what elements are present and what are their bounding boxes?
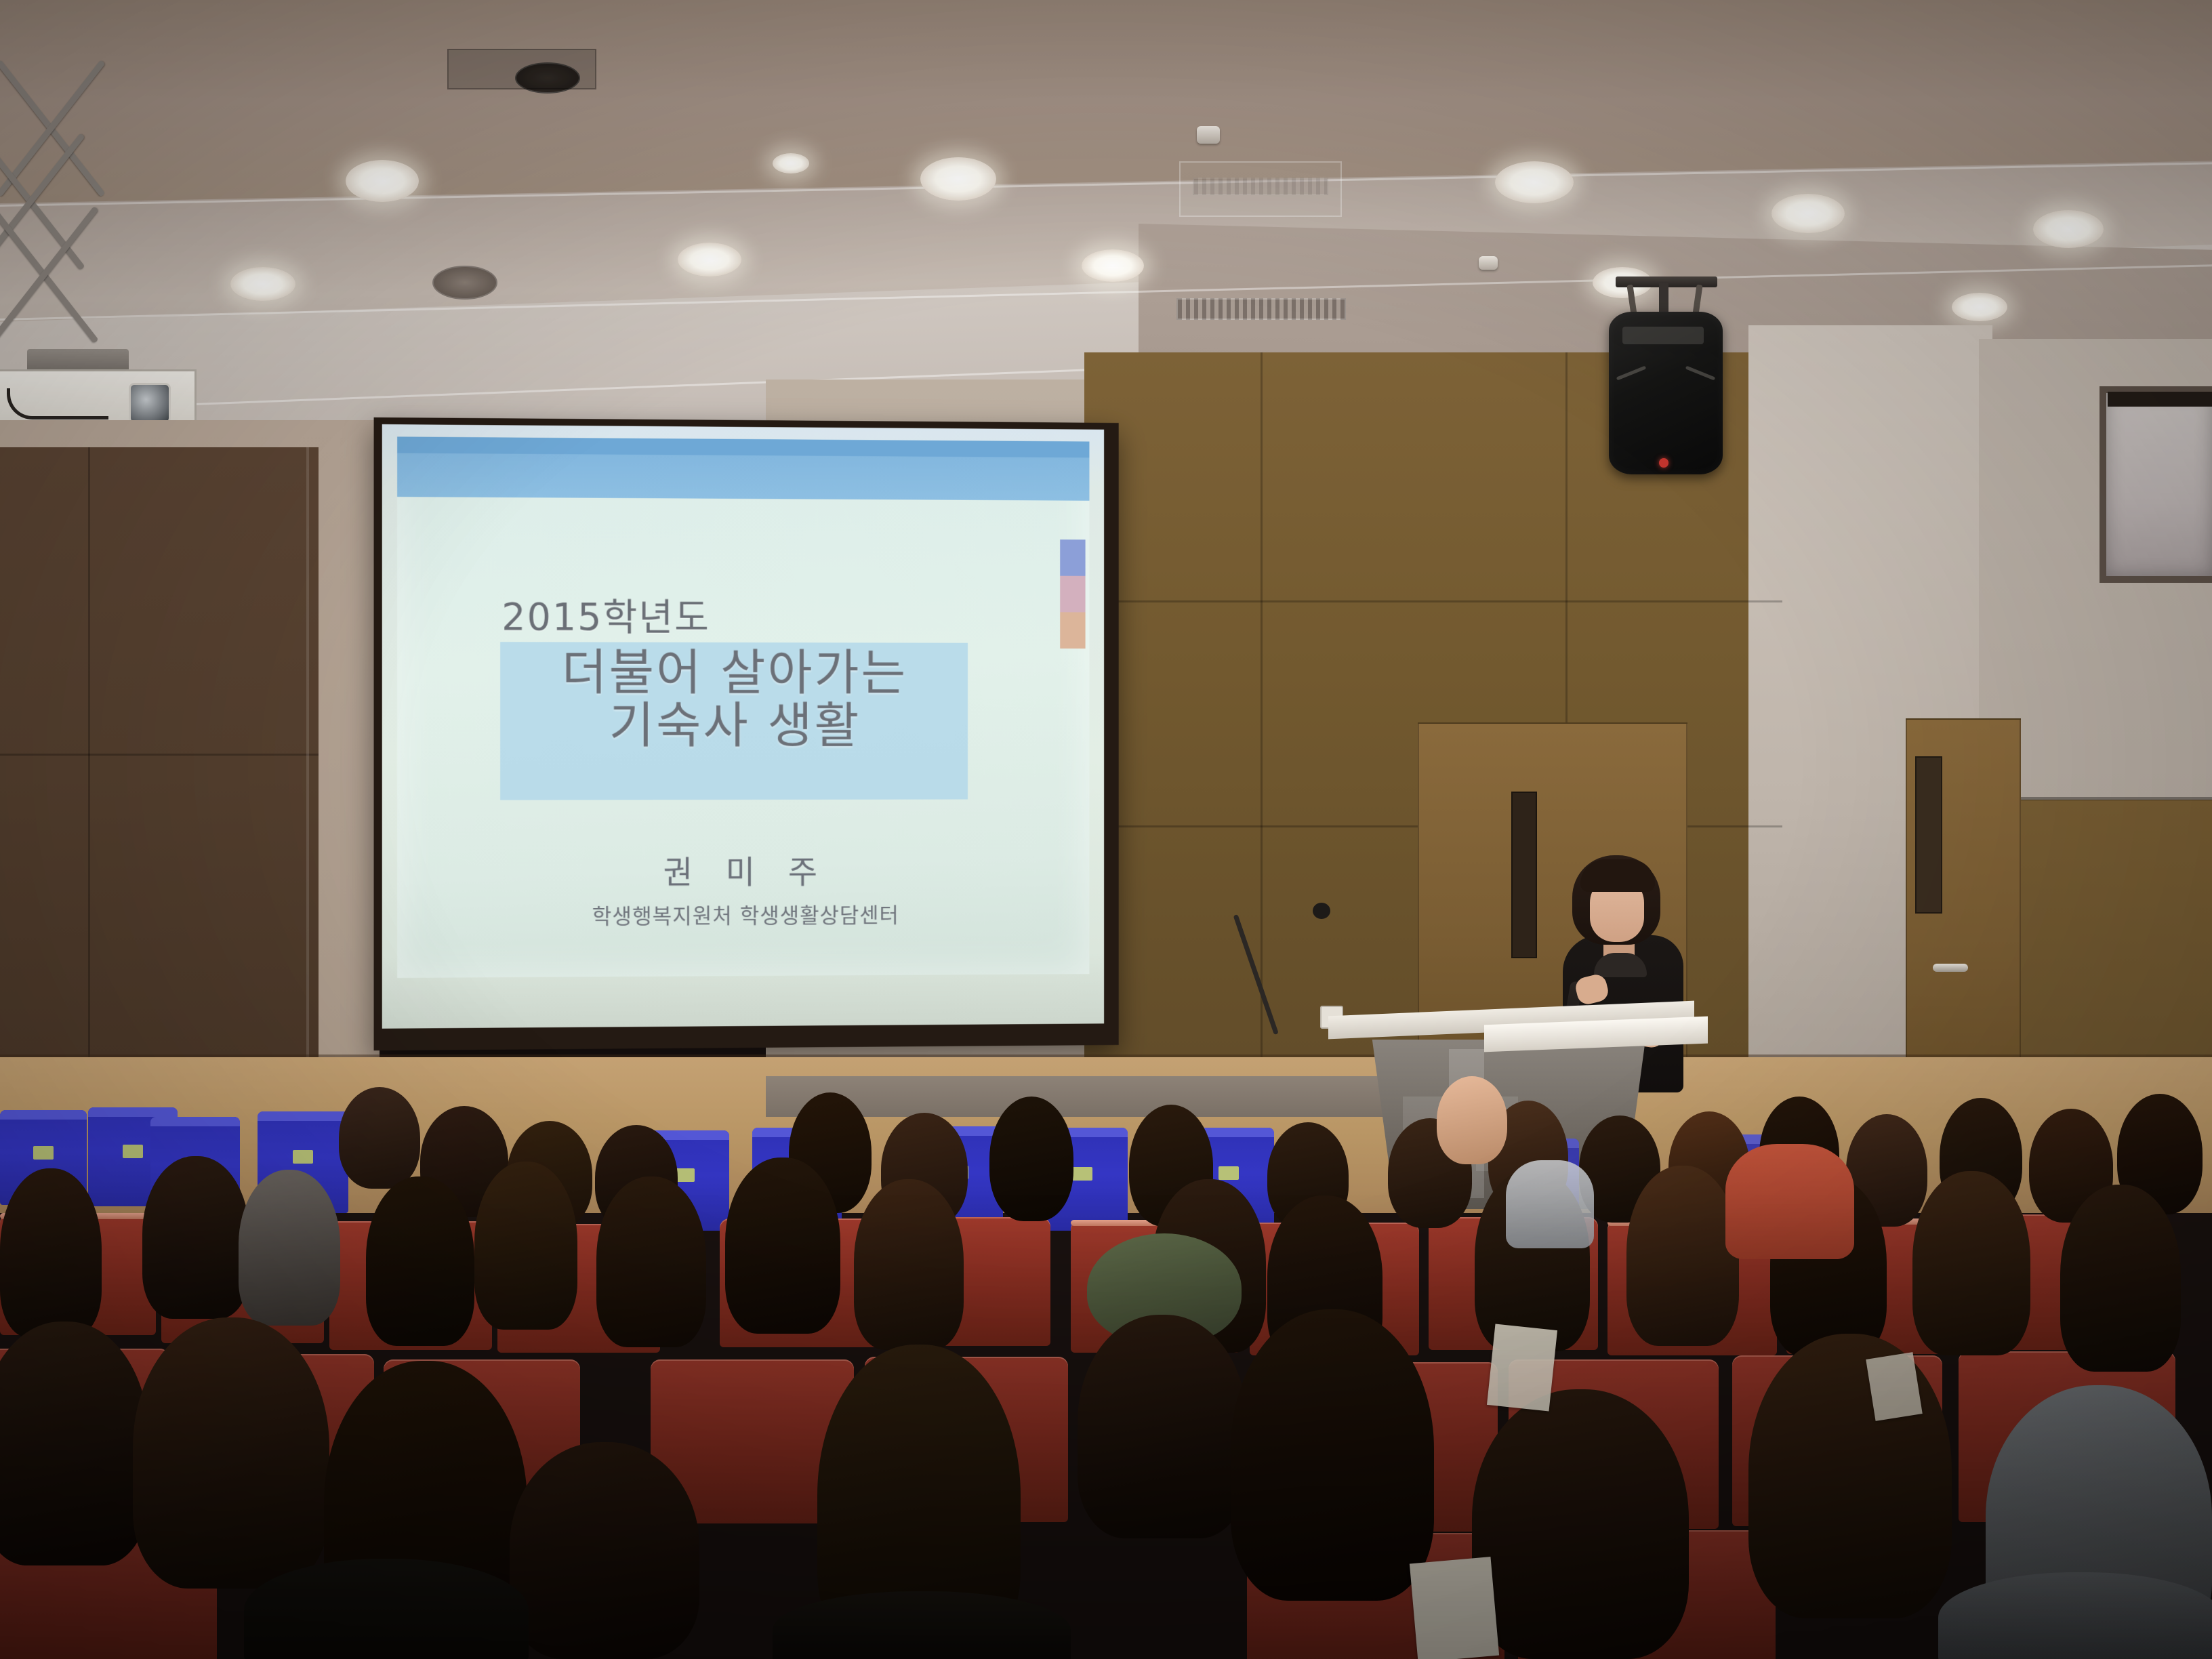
slide-title-line1: 더불어 살아가는 bbox=[500, 646, 968, 699]
speaker-grille bbox=[1622, 327, 1704, 344]
presenter-bangs bbox=[1580, 859, 1655, 892]
audience-head bbox=[474, 1162, 577, 1330]
audience-light-jacket bbox=[1506, 1160, 1594, 1248]
projector-lens-icon bbox=[129, 383, 171, 424]
slide-presenter-name: 권 미 주 bbox=[397, 845, 1089, 894]
slide-swatch-pink bbox=[1060, 576, 1085, 613]
audience-head bbox=[1078, 1315, 1247, 1538]
audience-head bbox=[725, 1158, 840, 1334]
ceiling-downlight-icon bbox=[346, 160, 419, 202]
slide-title: 더불어 살아가는 기숙사 생활 bbox=[500, 646, 968, 752]
audience-shoulders bbox=[773, 1591, 1071, 1659]
projection-screen-surface: 2015학년도 더불어 살아가는 기숙사 생활 권 미 주 학생행복지원처 학생… bbox=[382, 424, 1104, 1029]
gooseneck-microphone-head-icon bbox=[1313, 903, 1330, 919]
wall-seam bbox=[0, 754, 319, 756]
audience-head bbox=[142, 1156, 249, 1319]
handout-paper[interactable] bbox=[1487, 1324, 1557, 1412]
slide-swatch-peach bbox=[1060, 612, 1085, 649]
slide-swatch-blue bbox=[1060, 539, 1085, 576]
wall-seam bbox=[306, 447, 309, 1098]
door-handle-icon[interactable] bbox=[1933, 964, 1968, 972]
wall-seam bbox=[88, 447, 90, 1098]
audience-head bbox=[1626, 1166, 1739, 1346]
ceiling-downlight-icon bbox=[1952, 293, 2007, 321]
audience-head bbox=[239, 1170, 340, 1326]
projection-booth-window bbox=[2100, 386, 2212, 583]
slide-title-line2: 기숙사 생활 bbox=[500, 699, 968, 752]
booth-window-header-bar bbox=[2108, 392, 2212, 407]
air-vent-icon bbox=[1193, 178, 1328, 195]
rear-door-window bbox=[1915, 756, 1942, 914]
audience-head bbox=[1748, 1334, 1952, 1618]
speaker-mount-stem bbox=[1659, 283, 1668, 314]
handout-paper[interactable] bbox=[1866, 1352, 1923, 1421]
audience-head bbox=[0, 1322, 149, 1565]
ceiling-downlight-icon bbox=[1495, 161, 1574, 203]
sprinkler-head-icon bbox=[1479, 256, 1498, 270]
air-vent-icon bbox=[1176, 298, 1346, 320]
audience-head bbox=[989, 1097, 1073, 1221]
speaker-power-led-icon bbox=[1659, 458, 1668, 468]
ceiling-downlight-icon bbox=[678, 243, 741, 276]
audience-shoulders bbox=[1938, 1572, 2212, 1659]
slide-year-label: 2015학년도 bbox=[501, 586, 710, 641]
ceiling-downlight-icon bbox=[920, 157, 996, 201]
audience-head bbox=[1472, 1389, 1689, 1659]
ceiling-downlight-icon bbox=[1771, 194, 1845, 233]
audience-head bbox=[0, 1168, 102, 1338]
left-wood-wall bbox=[0, 447, 319, 1098]
ceiling-downlight-off-icon bbox=[432, 266, 497, 300]
ceiling-downlight-icon bbox=[773, 153, 809, 173]
audience-head bbox=[854, 1179, 964, 1350]
audience-head bbox=[596, 1176, 706, 1347]
audience-head bbox=[510, 1442, 699, 1659]
audience-head bbox=[1912, 1171, 2030, 1355]
auditorium-photo: 2015학년도 더불어 살아가는 기숙사 생활 권 미 주 학생행복지원처 학생… bbox=[0, 0, 2212, 1659]
audience-head bbox=[339, 1087, 420, 1189]
projection-screen-frame: 2015학년도 더불어 살아가는 기숙사 생활 권 미 주 학생행복지원처 학생… bbox=[374, 417, 1119, 1050]
audience-head bbox=[2060, 1185, 2181, 1372]
audience-head bbox=[1231, 1309, 1434, 1601]
audience-head bbox=[1437, 1076, 1507, 1164]
audience-head bbox=[133, 1317, 329, 1589]
audience-shoulders bbox=[244, 1559, 529, 1659]
door-window bbox=[1511, 792, 1537, 958]
wall-seam bbox=[1992, 797, 2212, 800]
pa-loudspeaker bbox=[1606, 276, 1725, 480]
slide-affiliation: 학생행복지원처 학생생활상담센터 bbox=[397, 897, 1089, 930]
ceiling-downlight-icon bbox=[2033, 210, 2104, 248]
ceiling-dark-panel bbox=[447, 49, 596, 89]
slide-color-swatches bbox=[1060, 539, 1085, 649]
presentation-slide: 2015학년도 더불어 살아가는 기숙사 생활 권 미 주 학생행복지원처 학생… bbox=[397, 436, 1089, 978]
wall-seam bbox=[1084, 600, 1782, 602]
ceiling-downlight-icon bbox=[1082, 249, 1144, 282]
audience-head bbox=[366, 1176, 474, 1346]
wall-seam bbox=[1261, 352, 1263, 1152]
smoke-detector-icon bbox=[1197, 126, 1220, 144]
audience-red-jacket bbox=[1725, 1144, 1854, 1259]
projector-cable bbox=[7, 388, 108, 419]
handout-paper[interactable] bbox=[1410, 1557, 1499, 1659]
